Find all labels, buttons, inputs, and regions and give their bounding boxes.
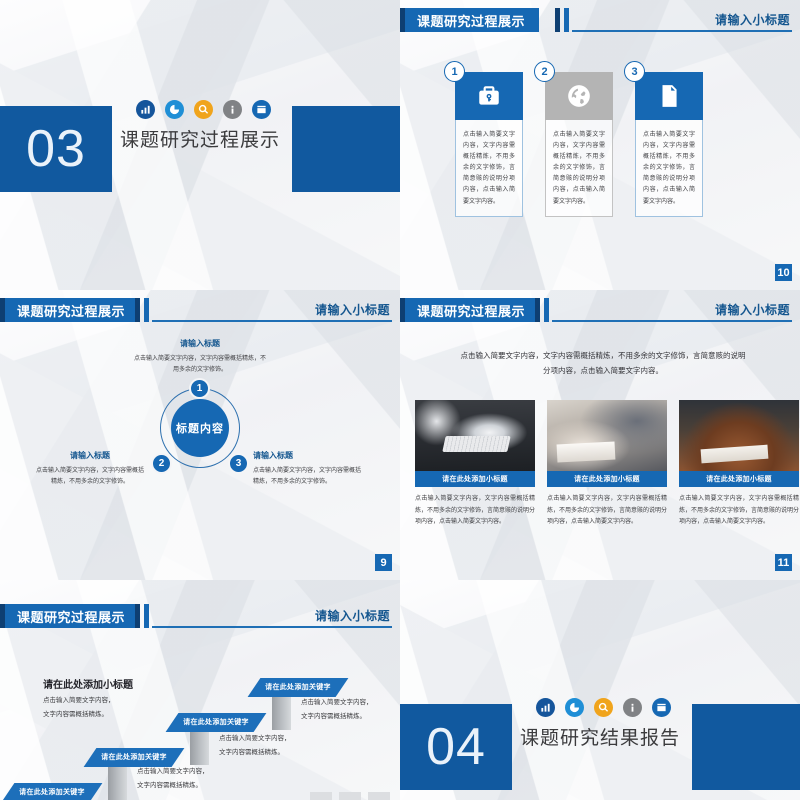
diagram-caption-top: 请输入标题 点击输入简要文字内容，文字内容需概括精炼，不用多余的文字修饰。 (133, 338, 267, 375)
slide-deck-grid: 03 课题研究过程展示 课题研究过程展示 (0, 0, 800, 800)
presentation-icon (252, 100, 271, 119)
header-subtitle: 请输入小标题 (715, 11, 790, 28)
step-plate: 请在此处添加关键字 (248, 678, 349, 697)
slide-section-03[interactable]: 03 课题研究过程展示 (0, 0, 400, 290)
globe-icon (566, 83, 592, 109)
step-label: 请在此处添加关键字 (254, 678, 342, 697)
header-rule (572, 30, 792, 32)
step-item[interactable]: 请在此处添加关键字 (8, 783, 96, 800)
step-body: 点击输入简要文字内容， 文字内容需概括精炼。 (219, 732, 329, 759)
briefcase-key-icon (476, 83, 502, 109)
slide-section-04[interactable]: 04 课题研究结果报告 (400, 580, 800, 800)
caption-title: 请输入标题 (133, 338, 267, 349)
card-item[interactable]: 3 点击输入简要文字内容，文字内容需概括精炼，不用多余的文字修饰，言简意赅的说明… (635, 72, 703, 217)
section-accent-block (692, 704, 800, 790)
slide-10-three-cards[interactable]: 课题研究过程展示 请输入小标题 1 点击输入简要文字内容，文字内容需概括精炼，不… (400, 0, 800, 290)
diagram-node-2[interactable]: 2 (151, 453, 172, 474)
info-icon (223, 100, 242, 119)
caption-title: 请输入标题 (253, 450, 365, 461)
bar-chart-icon (136, 100, 155, 119)
step-plate: 请在此处添加关键字 (2, 783, 103, 800)
card-list: 1 点击输入简要文字内容，文字内容需概括精炼，不用多余的文字修饰，言简意赅的说明… (455, 72, 703, 217)
slide-header: 课题研究过程展示 请输入小标题 (400, 8, 800, 32)
diagram-hub-label: 标题内容 (171, 399, 229, 457)
photo-caption: 请在此处添加小标题 (415, 471, 535, 487)
slide-9-circle-diagram[interactable]: 课题研究过程展示 请输入小标题 标题内容 1 2 3 请输入标题 点击输入简要文… (0, 290, 400, 580)
photo-meeting-notes (547, 400, 667, 471)
photo-card[interactable]: 请在此处添加小标题 点击输入简要文字内容，文字内容需概括精炼，不用多余的文字修饰… (547, 400, 667, 528)
photo-card[interactable]: 请在此处添加小标题 点击输入简要文字内容，文字内容需概括精炼，不用多余的文字修饰… (415, 400, 535, 528)
photo-body: 点击输入简要文字内容，文字内容需概括精炼，不用多余的文字修饰，言简意赅的说明分项… (547, 493, 667, 528)
card-item[interactable]: 2 点击输入简要文字内容，文字内容需概括精炼，不用多余的文字修饰，言简意赅的说明… (545, 72, 613, 217)
caption-body: 点击输入简要文字内容，文字内容需概括精炼，不用多余的文字修饰。 (36, 465, 144, 487)
decorative-boxes (310, 792, 390, 800)
card-body: 点击输入简要文字内容，文字内容需概括精炼，不用多余的文字修饰，言简意赅的说明分项… (455, 120, 523, 217)
card-icon-panel (455, 72, 523, 120)
card-icon-panel (635, 72, 703, 120)
header-tick-blue (144, 298, 149, 322)
photo-card[interactable]: 请在此处添加小标题 点击输入简要文字内容，文字内容需概括精炼，不用多余的文字修饰… (679, 400, 799, 528)
pie-chart-icon (565, 698, 584, 717)
header-rule (152, 320, 392, 322)
section-number: 04 (400, 704, 512, 790)
bar-chart-icon (536, 698, 555, 717)
page-number: 10 (775, 264, 792, 281)
slide-header: 课题研究过程展示 请输入小标题 (0, 298, 400, 322)
diagram-node-1[interactable]: 1 (189, 378, 210, 399)
step-item[interactable]: 请在此处添加关键字 (172, 713, 260, 732)
card-body: 点击输入简要文字内容，文字内容需概括精炼，不用多余的文字修饰，言简意赅的说明分项… (635, 120, 703, 217)
card-badge: 2 (534, 61, 555, 82)
search-icon (194, 100, 213, 119)
photo-body: 点击输入简要文字内容，文字内容需概括精炼，不用多余的文字修饰，言简意赅的说明分项… (679, 493, 799, 528)
diagram-node-3[interactable]: 3 (228, 453, 249, 474)
step-body: 点击输入简要文字内容， 文字内容需概括精炼。 (137, 765, 247, 792)
header-rule (552, 320, 792, 322)
stairs-diagram: 请在此处添加小标题 请在此处添加关键字 请在此处添加关键字 请在此处添加关键字 … (0, 580, 400, 800)
section-number: 03 (0, 106, 112, 192)
header-tick-dark (535, 298, 540, 322)
step-body: 点击输入简要文字内容， 文字内容需概括精炼。 (43, 694, 153, 721)
page-number: 11 (775, 554, 792, 571)
header-title: 课题研究过程展示 (5, 298, 139, 322)
slide-header: 课题研究过程展示 请输入小标题 (400, 298, 800, 322)
slide-12-stairs[interactable]: 课题研究过程展示 请输入小标题 请在此处添加小标题 请在此处添加关键字 请在此处… (0, 580, 400, 800)
caption-body: 点击输入简要文字内容，文字内容需概括精炼，不用多余的文字修饰。 (133, 353, 267, 375)
header-title: 课题研究过程展示 (405, 298, 539, 322)
section-title: 课题研究过程展示 (120, 125, 280, 152)
card-body: 点击输入简要文字内容，文字内容需概括精炼，不用多余的文字修饰，言简意赅的说明分项… (545, 120, 613, 217)
info-icon (623, 698, 642, 717)
photo-caption: 请在此处添加小标题 (679, 471, 799, 487)
section-middle: 课题研究结果报告 (520, 698, 680, 750)
step-body: 点击输入简要文字内容， 文字内容需概括精炼。 (301, 696, 400, 723)
header-tick-dark (555, 8, 560, 32)
page-number: 9 (375, 554, 392, 571)
document-list-icon (656, 83, 682, 109)
header-title: 课题研究过程展示 (405, 8, 539, 32)
caption-title: 请输入标题 (36, 450, 144, 461)
step-label: 请在此处添加关键字 (8, 783, 96, 800)
header-tick-blue (564, 8, 569, 32)
photo-body: 点击输入简要文字内容，文字内容需概括精炼，不用多余的文字修饰，言简意赅的说明分项… (415, 493, 535, 528)
slide-11-photo-cards[interactable]: 课题研究过程展示 请输入小标题 点击输入简要文字内容，文字内容需概括精炼，不用多… (400, 290, 800, 580)
header-tick-blue (544, 298, 549, 322)
diagram-caption-left: 请输入标题 点击输入简要文字内容，文字内容需概括精炼，不用多余的文字修饰。 (36, 450, 144, 487)
stairs-heading: 请在此处添加小标题 (43, 676, 133, 691)
card-item[interactable]: 1 点击输入简要文字内容，文字内容需概括精炼，不用多余的文字修饰，言简意赅的说明… (455, 72, 523, 217)
step-label: 请在此处添加关键字 (172, 713, 260, 732)
card-badge: 1 (444, 61, 465, 82)
card-badge: 3 (624, 61, 645, 82)
step-plate: 请在此处添加关键字 (166, 713, 267, 732)
section-title: 课题研究结果报告 (520, 723, 680, 750)
presentation-icon (652, 698, 671, 717)
icon-row (536, 698, 680, 717)
header-subtitle: 请输入小标题 (315, 301, 390, 318)
photo-caption: 请在此处添加小标题 (547, 471, 667, 487)
pie-chart-icon (165, 100, 184, 119)
header-subtitle: 请输入小标题 (715, 301, 790, 318)
circle-diagram: 标题内容 1 2 3 请输入标题 点击输入简要文字内容，文字内容需概括精炼，不用… (0, 330, 400, 560)
caption-body: 点击输入简要文字内容，文字内容需概括精炼，不用多余的文字修饰。 (253, 465, 365, 487)
step-item[interactable]: 请在此处添加关键字 (254, 678, 342, 697)
card-icon-panel (545, 72, 613, 120)
header-tick-dark (135, 298, 140, 322)
diagram-caption-right: 请输入标题 点击输入简要文字内容，文字内容需概括精炼，不用多余的文字修饰。 (253, 450, 365, 487)
lead-paragraph: 点击输入简要文字内容，文字内容需概括精炼，不用多余的文字修饰，言简意赅的说明分项… (458, 348, 748, 378)
photo-card-list: 请在此处添加小标题 点击输入简要文字内容，文字内容需概括精炼，不用多余的文字修饰… (415, 400, 799, 528)
section-middle: 课题研究过程展示 (120, 100, 280, 152)
photo-conference-table (679, 400, 799, 471)
photo-hands-on-keyboard (415, 400, 535, 471)
section-accent-block (292, 106, 400, 192)
icon-row (136, 100, 280, 119)
search-icon (594, 698, 613, 717)
